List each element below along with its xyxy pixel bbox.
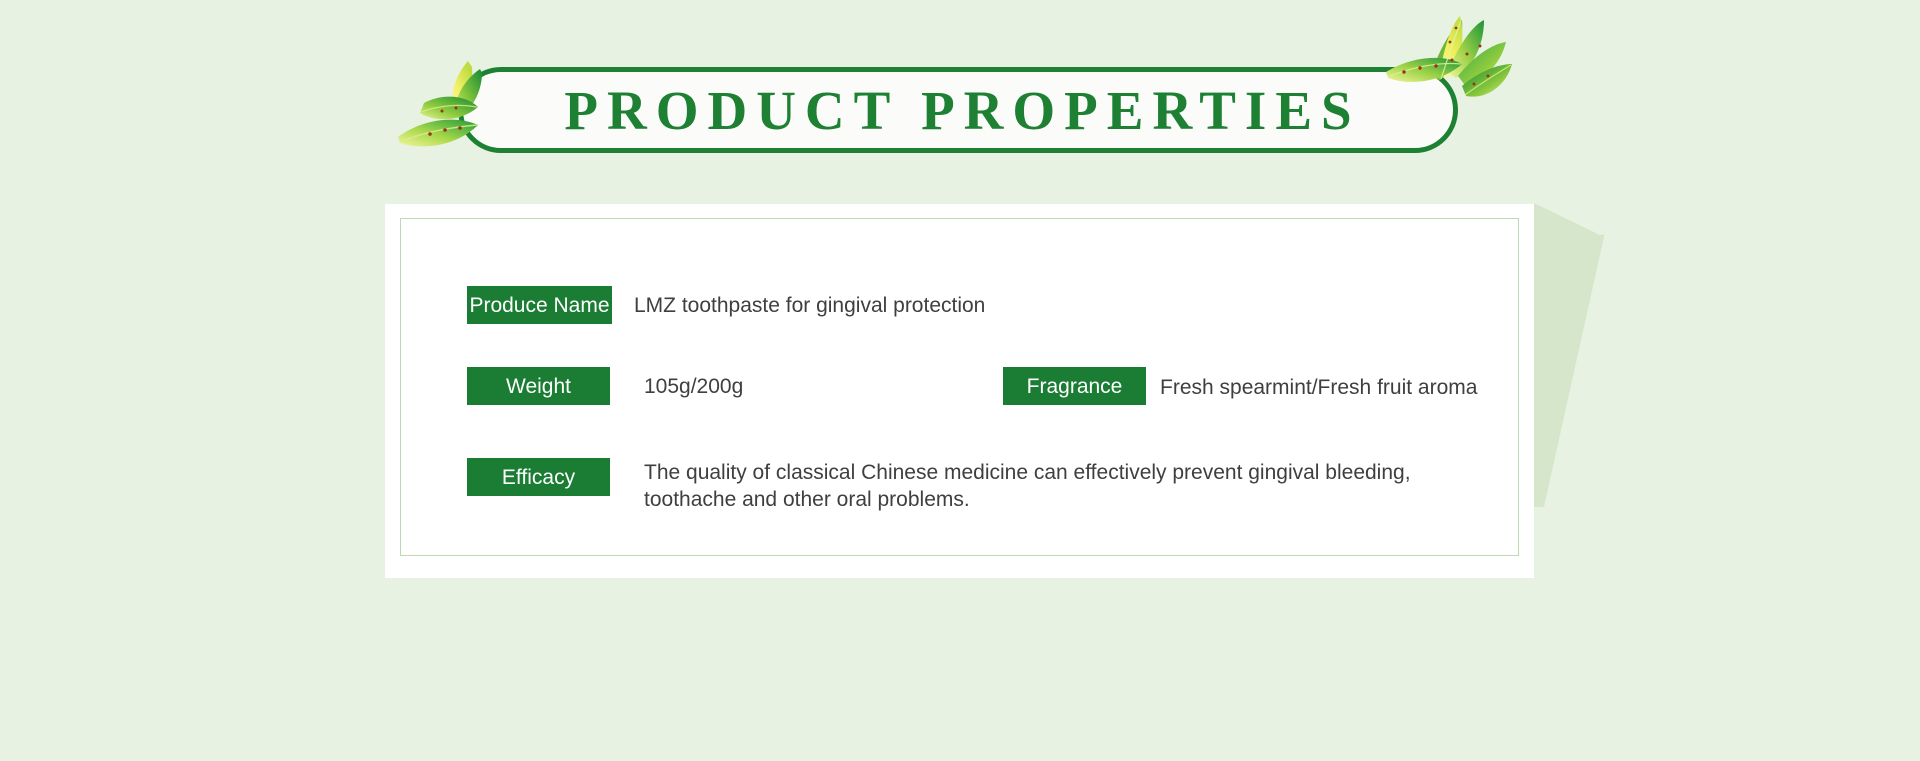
title-banner: PRODUCT PROPERTIES (0, 0, 1920, 175)
property-label-fragrance: Fragrance (1003, 367, 1146, 405)
property-row-weight: Weight 105g/200g (467, 367, 743, 405)
property-row-efficacy: Efficacy The quality of classical Chines… (467, 458, 1474, 513)
property-value-weight: 105g/200g (644, 373, 743, 400)
property-row-fragrance: Fragrance Fresh spearmint/Fresh fruit ar… (1003, 367, 1477, 405)
property-label-efficacy: Efficacy (467, 458, 610, 496)
property-value-fragrance: Fresh spearmint/Fresh fruit aroma (1160, 374, 1477, 401)
page-title: PRODUCT PROPERTIES (555, 83, 1360, 138)
property-value-efficacy: The quality of classical Chinese medicin… (644, 459, 1474, 513)
product-properties-card: Produce Name LMZ toothpaste for gingival… (0, 175, 1920, 695)
title-pill: PRODUCT PROPERTIES (458, 67, 1458, 153)
property-row-produce-name: Produce Name LMZ toothpaste for gingival… (467, 286, 985, 324)
property-label-produce-name: Produce Name (467, 286, 612, 324)
property-list: Produce Name LMZ toothpaste for gingival… (0, 175, 1920, 635)
property-value-produce-name: LMZ toothpaste for gingival protection (634, 292, 985, 319)
property-label-weight: Weight (467, 367, 610, 405)
